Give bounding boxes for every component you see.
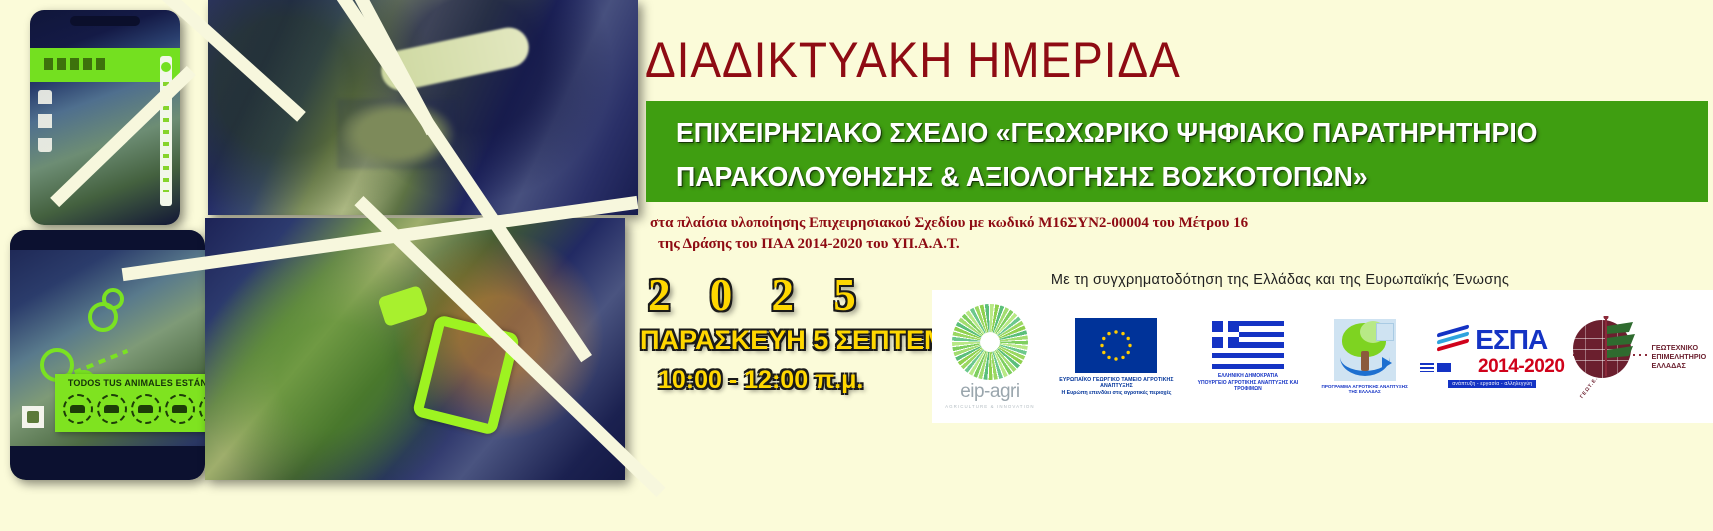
horse-icon: [97, 394, 127, 424]
paa-tree-icon: [1334, 319, 1396, 381]
phone-bezel-bottom: [10, 446, 205, 480]
phone-screenshot-map: [30, 10, 180, 225]
sheep-icon: [165, 394, 195, 424]
logo-geotee: ΓΕΩΤ.Ε.Ε. ΓΕΩΤΕΧΝΙΚΟ ΕΠΙΜΕΛΗΤΗΡΙΟ ΕΛΛΑΔΑ…: [1566, 297, 1713, 417]
eu-flag-icon: [1075, 318, 1157, 373]
app-side-buttons: [38, 90, 52, 152]
map-marker-icon: [22, 406, 44, 428]
event-time: 10:00 - 12:00 π.μ.: [658, 366, 863, 395]
geotee-caption-line2: ΕΠΙΜΕΛΗΤΗΡΙΟ: [1652, 352, 1707, 361]
map-node-icon: [102, 288, 124, 310]
ear-tag: [378, 285, 429, 327]
phone-notch: [70, 16, 140, 26]
poster-content: ΔΙΑΔΙΚΤΥΑΚΗ ΗΜΕΡΙΔΑ ΕΠΙΧΕΙΡΗΣΙΑΚΟ ΣΧΕΔΙΟ…: [640, 0, 1713, 531]
logo-eip-agri: eip-agri AGRICULTURE & INNOVATION: [932, 297, 1048, 417]
page-title: ΔΙΑΔΙΚΤΥΑΚΗ ΗΜΕΡΙΔΑ: [645, 31, 1181, 89]
geotee-caption-line3: ΕΛΛΑΔΑΣ: [1652, 361, 1707, 370]
animal-icon-row: [63, 394, 205, 424]
project-subnote-line2: της Δράσης του ΠΑΑ 2014-2020 του ΥΠ.Α.Α.…: [658, 234, 1430, 255]
cofunding-note: Με τη συγχρηματοδότηση της Ελλάδας και τ…: [1000, 272, 1560, 288]
hellenic-caption-line1: ΕΛΛΗΝΙΚΗ ΔΗΜΟΚΡΑΤΙΑ: [1218, 373, 1278, 379]
espa-main-row: ΕΣΠΑ: [1437, 325, 1547, 355]
image-collage: TODOS TUS ANIMALES ESTÁN BIEN: [0, 0, 650, 500]
espa-years: 2014-2020: [1478, 356, 1564, 378]
status-banner: TODOS TUS ANIMALES ESTÁN BIEN: [55, 374, 205, 432]
app-side-rail: [160, 56, 172, 206]
espa-flags-row: 2014-2020: [1420, 356, 1564, 378]
app-topbar: [30, 48, 180, 82]
goat-icon: [131, 394, 161, 424]
espa-wordmark: ΕΣΠΑ: [1475, 327, 1547, 353]
poster-root: TODOS TUS ANIMALES ESTÁN BIEN: [0, 0, 1713, 531]
espa-eu-flag-icon: [1437, 363, 1451, 372]
logo-espa: ΕΣΠΑ 2014-2020 ανάπτυξη - εργασία - αλλη…: [1419, 297, 1566, 417]
eip-agri-burst-icon: [952, 304, 1028, 380]
project-subnote: στα πλαίσια υλοποίησης Επιχειρησιακού Σχ…: [650, 213, 1430, 255]
eu-stars-icon: [1075, 318, 1157, 373]
logo-hellenic-republic: ΕΛΛΗΝΙΚΗ ΔΗΜΟΚΡΑΤΙΑ ΥΠΟΥΡΓΕΙΟ ΑΓΡΟΤΙΚΗΣ …: [1185, 297, 1311, 417]
geotee-emblem: ΓΕΩΤ.Ε.Ε.: [1573, 320, 1647, 394]
espa-greek-flag-icon: [1420, 363, 1434, 372]
project-subnote-line1: στα πλαίσια υλοποίησης Επιχειρησιακού Σχ…: [650, 215, 1248, 231]
eu-caption-line1: ΕΥΡΩΠΑΪΚΟ ΓΕΩΡΓΙΚΟ ΤΑΜΕΙΟ ΑΓΡΟΤΙΚΗΣ ΑΝΑΠ…: [1048, 377, 1185, 389]
eip-agri-tagline: AGRICULTURE & INNOVATION: [945, 404, 1035, 409]
espa-tagline: ανάπτυξη - εργασία - αλληλεγγύη: [1448, 380, 1536, 388]
status-banner-text: TODOS TUS ANIMALES ESTÁN BIEN: [61, 378, 205, 388]
eu-caption-line2: Η Ευρώπη επενδύει στις αγροτικές περιοχέ…: [1061, 390, 1171, 396]
cow-icon: [63, 394, 93, 424]
logo-paa: ΠΡΟΓΡΑΜΜΑ ΑΓΡΟΤΙΚΗΣ ΑΝΑΠΤΥΞΗΣ ΤΗΣ ΕΛΛΑΔΑ…: [1311, 297, 1419, 417]
project-title-line1: ΕΠΙΧΕΙΡΗΣΙΑΚΟ ΣΧΕΔΙΟ «ΓΕΩΧΩΡΙΚΟ ΨΗΦΙΑΚΟ …: [676, 117, 1537, 149]
logo-strip: eip-agri AGRICULTURE & INNOVATION: [932, 290, 1713, 423]
project-title-line2: ΠΑΡΑΚΟΛΟΥΘΗΣΗΣ & ΑΞΙΟΛΟΓΗΣΗΣ ΒΟΣΚΟΤΟΠΩΝ»: [676, 161, 1368, 193]
espa-swoosh-icon: [1437, 325, 1471, 355]
greek-flag-icon: [1212, 321, 1284, 369]
eip-agri-wordmark: eip-agri: [960, 381, 1019, 403]
paa-caption-line2: ΤΗΣ ΕΛΛΑΔΑΣ: [1349, 389, 1381, 394]
phone-bezel-top: [10, 230, 205, 250]
geotee-caption-line1: ΓΕΩΤΕΧΝΙΚΟ: [1652, 343, 1707, 352]
geotee-wheat-icon: [1599, 316, 1645, 378]
project-title-band: ΕΠΙΧΕΙΡΗΣΙΑΚΟ ΣΧΕΔΙΟ «ΓΕΩΧΩΡΙΚΟ ΨΗΦΙΑΚΟ …: [646, 101, 1708, 202]
logo-eu-eafrd: ΕΥΡΩΠΑΪΚΟ ΓΕΩΡΓΙΚΟ ΤΑΜΕΙΟ ΑΓΡΟΤΙΚΗΣ ΑΝΑΠ…: [1048, 297, 1185, 417]
hellenic-caption-line2: ΥΠΟΥΡΓΕΙΟ ΑΓΡΟΤΙΚΗΣ ΑΝΑΠΤΥΞΗΣ ΚΑΙ ΤΡΟΦΙΜ…: [1185, 380, 1311, 392]
event-year: 2 0 2 5: [648, 269, 870, 321]
